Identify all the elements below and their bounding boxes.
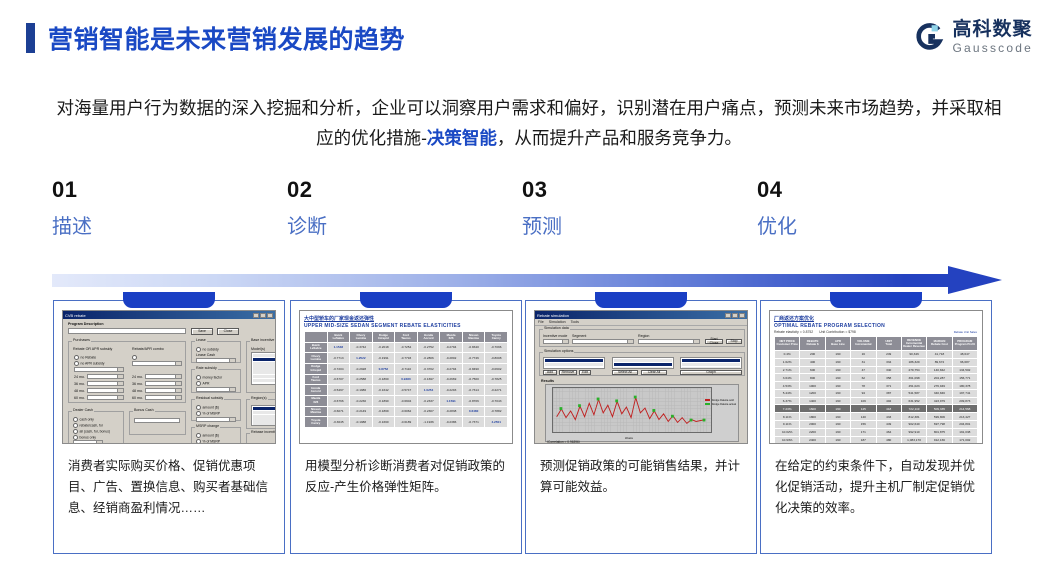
group-label-bonus-cash: Bonus Cash: [133, 408, 155, 412]
arrow-shaft: [52, 274, 950, 287]
table-row: 3.64%80019062358361,098204,287156,771: [775, 374, 978, 382]
rebate-cell: 41,718: [927, 350, 952, 358]
menu-item-tools[interactable]: Tools: [571, 320, 579, 324]
group-label-msrp-change: MSRP change: [195, 424, 220, 428]
list-item[interactable]: [253, 379, 276, 383]
rebate-cell: 1400: [800, 397, 825, 405]
rebate-cell: 190: [825, 366, 850, 374]
matrix-cell: -0.1697: [417, 374, 440, 385]
matrix-cell: -0.1988: [350, 417, 373, 428]
group-label-program-description: Program Description: [68, 322, 104, 326]
label-segment: Segment: [572, 334, 586, 338]
window-title-bar: CVB rebate: [63, 311, 275, 319]
matrix-cell: 1.1591: [440, 395, 463, 406]
combo-label-48mo: 48 mo.: [132, 389, 143, 393]
rebate-cell: 197,741: [952, 389, 977, 397]
list-item[interactable]: [253, 354, 276, 358]
rebate-cell: 209,873: [952, 397, 977, 405]
table-row: FordTaurus-0.6707-0.2588-0.18600.9480-0.…: [305, 374, 508, 385]
matrix-cell: -0.7314: [462, 385, 485, 396]
label-region: Region: [638, 334, 649, 338]
radio-all-cash[interactable]: all (cash, for, bonus): [73, 429, 110, 434]
matrix-row-header: NissanMaxima: [305, 406, 328, 417]
matrix-cell: -0.7371: [462, 417, 485, 428]
rebate-cell: 190: [825, 358, 850, 366]
purchase-36mo-select[interactable]: [87, 381, 124, 386]
rebate-cell: 912,166: [927, 436, 952, 444]
rebate-cell: 6.37%: [775, 397, 800, 405]
title-accent-bar: [26, 23, 35, 53]
purchases-group: Purchases Rebate OR APR subsidy Rebate/A…: [68, 341, 186, 403]
rebate-cell: 156,771: [952, 374, 977, 382]
rebate-cell: 631,952: [901, 397, 926, 405]
rebate-cell: 2200: [800, 428, 825, 436]
matrix-column-header: ToyotaCamry: [485, 332, 508, 343]
matrix-cell: -0.2588: [350, 374, 373, 385]
screenshot-thumbnail-describe: CVB rebate Program Description Purchases: [62, 310, 276, 444]
rebate-cell: 2.71%: [775, 366, 800, 374]
matrix-cell: -0.2293: [440, 385, 463, 396]
matrix-cell: -0.7825: [485, 374, 508, 385]
list-item-selected[interactable]: [614, 363, 672, 367]
radio-pct-of-msrp[interactable]: % of MSRP: [196, 411, 220, 416]
matrix-cell: -0.2669: [440, 374, 463, 385]
stop-button[interactable]: Stop: [726, 339, 742, 344]
rebate-cell: 5.44%: [775, 389, 800, 397]
rebate-cell: 509,335: [927, 405, 952, 413]
step-label: 诊断: [287, 215, 487, 239]
table-row: 10.02%2200190171464992,910801,875191,038: [775, 428, 978, 436]
list-item[interactable]: [253, 419, 276, 423]
matrix-cell: -0.7882: [485, 406, 508, 417]
step-number: 04: [757, 177, 957, 203]
rebase-incentive-group: Rebase incentive Clear Restore current e…: [246, 433, 276, 444]
matrix-cell: -0.3742: [350, 342, 373, 353]
radio-no-subsidy[interactable]: no subsidy: [196, 347, 219, 352]
dealer-cash-select[interactable]: [73, 440, 103, 444]
menu-bar: File Simulation Tools: [535, 319, 747, 326]
intro-paragraph: 对海量用户行为数据的深入挖掘和分析，企业可以洞察用户需求和偏好，识别潜在用户痛点…: [50, 93, 1008, 153]
brand-text: 高科数聚 Gausscode: [952, 20, 1033, 54]
list-item[interactable]: [682, 363, 740, 367]
matrix-cell: -0.2802: [440, 353, 463, 364]
brand-name-en: Gausscode: [952, 42, 1033, 54]
minimize-icon[interactable]: [725, 313, 731, 318]
list-item[interactable]: [253, 411, 276, 415]
matrix-column-header: BuickLeSabre: [327, 332, 350, 343]
title-text: 营销智能是未来营销发展的趋势: [48, 20, 405, 56]
radio-money-factor[interactable]: money factor: [196, 375, 222, 380]
window-buttons: [253, 313, 273, 318]
legend-entry-actual: Dodge Dakota actual: [705, 403, 736, 407]
matrix-cell: 1.1548: [327, 342, 350, 353]
matrix-cell: -0.7204: [327, 363, 350, 374]
group-label-residual-subsidy: Residual subsidy: [195, 396, 224, 400]
window-buttons: [725, 313, 745, 318]
matrix-cell: -0.1660: [372, 417, 395, 428]
rebate-cell: 140: [851, 413, 876, 421]
rebate-cell: 204,287: [927, 374, 952, 382]
rebate-cell: 276,949: [927, 382, 952, 390]
scenario-listbox[interactable]: [543, 357, 605, 369]
radio-combo-offered[interactable]: [132, 355, 139, 360]
residual-subsidy-group: Residual subsidy amount ($) % of MSRP: [191, 399, 241, 421]
lease-cash-select[interactable]: [196, 358, 236, 363]
matrix-cell: -0.2928: [350, 363, 373, 374]
radio-amount[interactable]: amount ($): [196, 405, 219, 410]
step-label: 优化: [757, 215, 957, 239]
add-button[interactable]: Add: [543, 370, 557, 375]
rebate-cell: 697,798: [927, 421, 952, 429]
rebate-cell: 541,587: [901, 389, 926, 397]
matrix-cell: -0.0602: [485, 363, 508, 374]
step-02: 02 诊断: [287, 177, 487, 239]
matrix-cell: -0.3702: [417, 363, 440, 374]
table-row: NissanMaxima-0.6071-0.2149-0.1869-0.6062…: [305, 406, 508, 417]
matrix-cell: -0.5497: [327, 385, 350, 396]
list-item-selected[interactable]: [545, 359, 603, 363]
rebate-cell: 423,979: [927, 397, 952, 405]
remove-button[interactable]: Remove: [559, 370, 577, 375]
radio-no-apr-subsidy[interactable]: no APR subsidy: [74, 361, 104, 366]
rebate-cell: 90,346: [901, 350, 926, 358]
rebate-cell: 599,806: [927, 413, 952, 421]
rebate-cell: 1600: [800, 405, 825, 413]
radio-no-rebate[interactable]: no Rebate: [74, 355, 96, 360]
rebate-cell: 7.23%: [775, 405, 800, 413]
rebate-cell: 3.64%: [775, 374, 800, 382]
matrix-cell: -0.1890: [372, 395, 395, 406]
simulation-window: Rebate simulation File Simulation Tools: [535, 311, 747, 443]
matrix-column-header: HondaAccord: [417, 332, 440, 343]
row-label-48mo: 48 mo.: [74, 389, 85, 393]
list-item[interactable]: [253, 366, 276, 370]
rebate-column-header: MARGINRebate Cost: [927, 337, 952, 351]
matrix-cell: -0.7043: [485, 395, 508, 406]
matrix-cell: -0.1991: [372, 353, 395, 364]
group-label-base-incentive: Base incentive: [250, 338, 275, 342]
step-01: 01 描述: [52, 177, 252, 239]
list-item[interactable]: [253, 375, 276, 379]
model-listbox[interactable]: [612, 357, 674, 369]
combo-24mo-select[interactable]: [145, 374, 182, 379]
list-item[interactable]: [253, 423, 276, 426]
bonus-cash-input[interactable]: [134, 418, 180, 423]
maximize-icon[interactable]: [732, 313, 738, 318]
rebate-cell: 1,083,170: [901, 436, 926, 444]
rebate-cell: 134,502: [952, 366, 977, 374]
rebate-cell: 4.53%: [775, 382, 800, 390]
matrix-cell: -0.2018: [372, 342, 395, 353]
rebate-cell: 600: [800, 366, 825, 374]
group-label-regions: Region(s): [250, 396, 268, 400]
table-row: 5.44%120019094387541,587340,846197,741: [775, 389, 978, 397]
msrp-change-group: MSRP change amount ($) % of MSRP: [191, 427, 241, 444]
rebate-cell: 187: [851, 436, 876, 444]
edit-button[interactable]: Edit: [579, 370, 591, 375]
card-describe[interactable]: CVB rebate Program Description Purchases: [53, 300, 285, 554]
card-predict[interactable]: Rebate simulation File Simulation Tools: [525, 300, 757, 554]
rebate-cell: 361,098: [901, 374, 926, 382]
minimize-icon[interactable]: [253, 313, 259, 318]
matrix-column-header: FordTaurus: [395, 332, 418, 343]
rebate-cell: 94: [851, 389, 876, 397]
list-item[interactable]: [682, 367, 740, 369]
list-item-selected[interactable]: [253, 358, 276, 362]
combo-60mo-select[interactable]: [145, 395, 182, 400]
matrix-cell: -0.2838: [440, 406, 463, 417]
rebate-cell: 249: [876, 350, 901, 358]
matrix-column-header: NissanMaxima: [462, 332, 485, 343]
matrix-cell: -0.8340: [462, 342, 485, 353]
card-notch: [595, 292, 687, 308]
residual-subsidy-select[interactable]: [196, 417, 236, 422]
rebate-cell: 480: [876, 436, 901, 444]
purchase-60mo-select[interactable]: [87, 395, 124, 400]
step-03: 03 预测: [522, 177, 722, 239]
window-title-text: CVB rebate: [65, 313, 86, 318]
card-diagnose[interactable]: 大中型轿车的厂家现金返还弹性 UPPER MID-SIZE SEDAN SEGM…: [290, 300, 522, 554]
close-icon[interactable]: [739, 313, 745, 318]
matrix-cell: -0.6071: [327, 406, 350, 417]
window-title-text: Rebate simulation: [537, 313, 569, 318]
matrix-cell: 0.9480: [395, 374, 418, 385]
group-label-rebase-incentive: Rebase incentive: [250, 430, 276, 434]
clear-all-button[interactable]: Clear All: [641, 370, 667, 375]
chart-legend: Dodge Dakota sold Dodge Dakota actual: [705, 399, 736, 407]
rebate-title-en: OPTIMAL REBATE PROGRAM SELECTION: [774, 323, 978, 329]
step-label: 描述: [52, 215, 252, 239]
combo-48mo-select[interactable]: [145, 388, 182, 393]
rebate-cell: 722,119: [901, 405, 926, 413]
matrix-cell: -0.2386: [440, 417, 463, 428]
matrix-row-header: ChevyLumina: [305, 353, 328, 364]
rebate-cell: 190: [825, 397, 850, 405]
rebate-cell: 200: [800, 350, 825, 358]
list-item[interactable]: [614, 359, 672, 363]
card-notch: [360, 292, 452, 308]
table-row: 9.11%2000190156449902,640697,798204,801: [775, 421, 978, 429]
table-row: ToyotaCamry-0.3645-0.1988-0.1660-0.6189-…: [305, 417, 508, 428]
card-caption: 在给定的约束条件下，自动发现并优化促销活动，提升主机厂制定促销优化决策的效率。: [775, 456, 979, 519]
page-title: 营销智能是未来营销发展的趋势: [26, 20, 405, 56]
list-item[interactable]: [253, 362, 276, 366]
rebate-column-header: PROGRAMProgram Profit: [952, 337, 977, 351]
matrix-cell: -0.7746: [462, 353, 485, 364]
matrix-cell: -0.2794: [440, 363, 463, 374]
rebate-cell: 140,842: [927, 366, 952, 374]
rebate-cell: 8.11%: [775, 413, 800, 421]
label-models: Model(s): [251, 347, 265, 351]
screenshot-thumbnail-diagnose: 大中型轿车的厂家现金返还弹性 UPPER MID-SIZE SEDAN SEGM…: [299, 310, 513, 444]
slide-root: 营销智能是未来营销发展的趋势 高科数聚 Gausscode 对海量用户行为数据的…: [0, 0, 1051, 586]
matrix-cell: -0.1986: [350, 385, 373, 396]
chart-series-svg: [553, 388, 711, 432]
rebate-cell: 190: [825, 413, 850, 421]
rebate-cell: 171: [851, 428, 876, 436]
group-label-rate-subsidy: Rate subsidy: [195, 366, 218, 370]
radio-apr[interactable]: APR: [196, 381, 209, 386]
graph-button[interactable]: Graph: [680, 370, 742, 375]
model-listbox[interactable]: [251, 352, 276, 385]
matrix-title-cn: 大中型轿车的厂家现金返还弹性: [304, 315, 508, 322]
matrix-cell: 1.2522: [350, 353, 373, 364]
matrix-cell: -0.7096: [485, 342, 508, 353]
rebate-cell: 204,801: [952, 421, 977, 429]
rebate-cell: 125: [851, 405, 876, 413]
rebate-cell: 156: [851, 421, 876, 429]
rebate-cell: 190: [825, 389, 850, 397]
purchase-24mo-select[interactable]: [87, 374, 124, 379]
list-item-selected[interactable]: [253, 407, 276, 411]
radio-msrp-pct[interactable]: % of MSRP: [196, 439, 220, 444]
rebate-cell: 387: [876, 389, 901, 397]
region-listbox[interactable]: [251, 405, 276, 426]
rate-subsidy-select[interactable]: [196, 387, 236, 392]
list-item[interactable]: [253, 370, 276, 374]
rebate-column-header: APRBase Line: [825, 337, 850, 351]
elasticity-matrix-table: BuickLeSabreChevyLuminaDodgeIntrepidFord…: [304, 331, 508, 428]
list-item[interactable]: [253, 415, 276, 419]
segment-select[interactable]: [572, 339, 634, 344]
rebate-cell: 180,378: [952, 382, 977, 390]
legend-label: Dodge Dakota actual: [712, 403, 736, 406]
slide-header: 营销智能是未来营销发展的趋势 高科数聚 Gausscode: [0, 0, 1051, 72]
output-listbox[interactable]: [680, 357, 742, 369]
group-label-results: Results: [541, 379, 554, 383]
rebate-cell: 190: [825, 405, 850, 413]
matrix-row-header: Mazda626: [305, 395, 328, 406]
purchase-mode-select[interactable]: [74, 367, 124, 372]
rebate-cell: 214,568: [952, 405, 977, 413]
rebate-cell: 1000: [800, 382, 825, 390]
table-row: HondaAccord-0.5497-0.1986-0.1642-0.57471…: [305, 385, 508, 396]
rebate-cell: 48,647: [952, 350, 977, 358]
close-button[interactable]: Close: [217, 328, 239, 335]
select-all-button[interactable]: Select All: [612, 370, 638, 375]
rebate-cell: 89,672: [927, 358, 952, 366]
card-caption: 预测促销政策的可能销售结果，并计算可能效益。: [540, 456, 744, 498]
matrix-cell: -0.6766: [327, 395, 350, 406]
matrix-cell: 0.6480: [462, 406, 485, 417]
combo-mode-select[interactable]: [132, 361, 182, 366]
card-caption: 消费者实际购买价格、促销优惠项目、广告、置换信息、购买者基础信息、经销商盈利情况…: [68, 456, 272, 519]
rebate-cell: 358: [876, 374, 901, 382]
rebate-cell: 2000: [800, 421, 825, 429]
rebate-column-header: REVENUEIncrementalDealer Revenue: [901, 337, 926, 351]
list-item-selected[interactable]: [682, 359, 740, 363]
card-optimize[interactable]: 厂商返还方案优化 OPTIMAL REBATE PROGRAM SELECTIO…: [760, 300, 992, 554]
matrix-cell: -0.8008: [485, 353, 508, 364]
optimal-rebate-sheet: 厂商返还方案优化 OPTIMAL REBATE PROGRAM SELECTIO…: [770, 311, 982, 443]
maximize-icon[interactable]: [260, 313, 266, 318]
rebate-cell: 801,875: [927, 428, 952, 436]
table-row: DodgeIntrepid-0.7204-0.29280.8752-0.7110…: [305, 363, 508, 374]
matrix-cell: -0.6707: [327, 374, 350, 385]
table-row: 8.11%1800190140433812,381599,806213,427: [775, 413, 978, 421]
save-button[interactable]: Save: [191, 328, 213, 335]
rebate-cell: 464: [876, 428, 901, 436]
close-icon[interactable]: [267, 313, 273, 318]
group-label-simulation-data: Simulation data: [543, 326, 570, 330]
rebate-cell: 109: [851, 397, 876, 405]
gausscode-logo-icon: [914, 22, 944, 52]
rebate-cell: 78: [851, 382, 876, 390]
simulation-body: Simulation data Incentive mode Segment R…: [535, 326, 747, 443]
incentive-mode-select[interactable]: [543, 339, 569, 344]
rebate-cell: 213,427: [952, 413, 977, 421]
card-row: CVB rebate Program Description Purchases: [0, 300, 1051, 560]
matrix-cell: -0.5747: [395, 385, 418, 396]
matrix-cell: -0.6062: [395, 406, 418, 417]
card-notch: [830, 292, 922, 308]
rebate-cell: 449: [876, 421, 901, 429]
program-description-input[interactable]: [68, 328, 186, 334]
start-close-button[interactable]: Start Close: [705, 339, 723, 344]
matrix-cell: -0.6904: [395, 395, 418, 406]
rebate-column-header: NET PRICECustomer Price: [775, 337, 800, 351]
label-lease-cash: Lease Cash: [196, 353, 215, 357]
rebate-cell: 190: [825, 436, 850, 444]
label-incentive-mode: Incentive mode: [543, 334, 567, 338]
simulation-options-group: Simulation options: [539, 352, 745, 376]
rebate-cell: 191,038: [952, 428, 977, 436]
radio-rebate-cash-for[interactable]: rebate/cash, for: [73, 423, 103, 428]
intro-text-part2: ，从而提升产品和服务竞争力。: [497, 128, 742, 148]
rebate-meta: Rebate elasticity = 0.8752 Unit Contribu…: [774, 330, 978, 334]
region-select[interactable]: [638, 339, 700, 344]
menu-item-file[interactable]: File: [538, 320, 544, 324]
matrix-cell: -0.6189: [395, 417, 418, 428]
menu-item-simulation[interactable]: Simulation: [549, 320, 566, 324]
matrix-cell: -0.2794: [440, 342, 463, 353]
row-label-60mo: 60 mo.: [74, 396, 85, 400]
radio-cash-only[interactable]: cash only: [73, 417, 94, 422]
rebate-cell: 418: [876, 405, 901, 413]
purchase-48mo-select[interactable]: [87, 388, 124, 393]
rebate-cell: 2400: [800, 436, 825, 444]
rebate-cell: 1800: [800, 413, 825, 421]
radio-msrp-amount[interactable]: amount ($): [196, 433, 219, 438]
rebate-cell: 186,329: [901, 358, 926, 366]
matrix-cell: -0.2149: [350, 406, 373, 417]
matrix-cell: 0.8752: [372, 363, 395, 374]
rebate-cell: 402: [876, 397, 901, 405]
list-item[interactable]: [545, 363, 603, 367]
matrix-cell: -0.1642: [372, 385, 395, 396]
step-number: 01: [52, 177, 252, 203]
matrix-cell: -0.2271: [485, 385, 508, 396]
matrix-cell: -0.7110: [395, 363, 418, 374]
list-item[interactable]: [614, 367, 672, 369]
table-row: 6.37%1400190109402631,952423,979209,873: [775, 397, 978, 405]
table-row: 7.23%1600190125418722,119509,335214,568: [775, 405, 978, 413]
unit-contribution-meta: Unit Contribution = $798: [819, 330, 856, 334]
matrix-row-header: FordTaurus: [305, 374, 328, 385]
rebate-corner-note: Rebate Unit Sales: [954, 330, 977, 334]
step-list: 01 描述 02 诊断 03 预测 04 优化: [52, 177, 1012, 247]
chart-correlation-note: (Correlation = 0.96396): [547, 440, 580, 444]
combo-36mo-select[interactable]: [145, 381, 182, 386]
group-label-simulation-options: Simulation options: [543, 349, 574, 353]
matrix-column-header: Mazda626: [440, 332, 463, 343]
table-row: Mazda626-0.6766-0.2230-0.1890-0.6904-0.2…: [305, 395, 508, 406]
combo-label-36mo: 36 mo.: [132, 382, 143, 386]
rebate-cell: 1.62%: [775, 358, 800, 366]
matrix-cell: -0.7254: [395, 342, 418, 353]
rebate-cell: 433: [876, 413, 901, 421]
matrix-cell: -0.1860: [372, 374, 395, 385]
